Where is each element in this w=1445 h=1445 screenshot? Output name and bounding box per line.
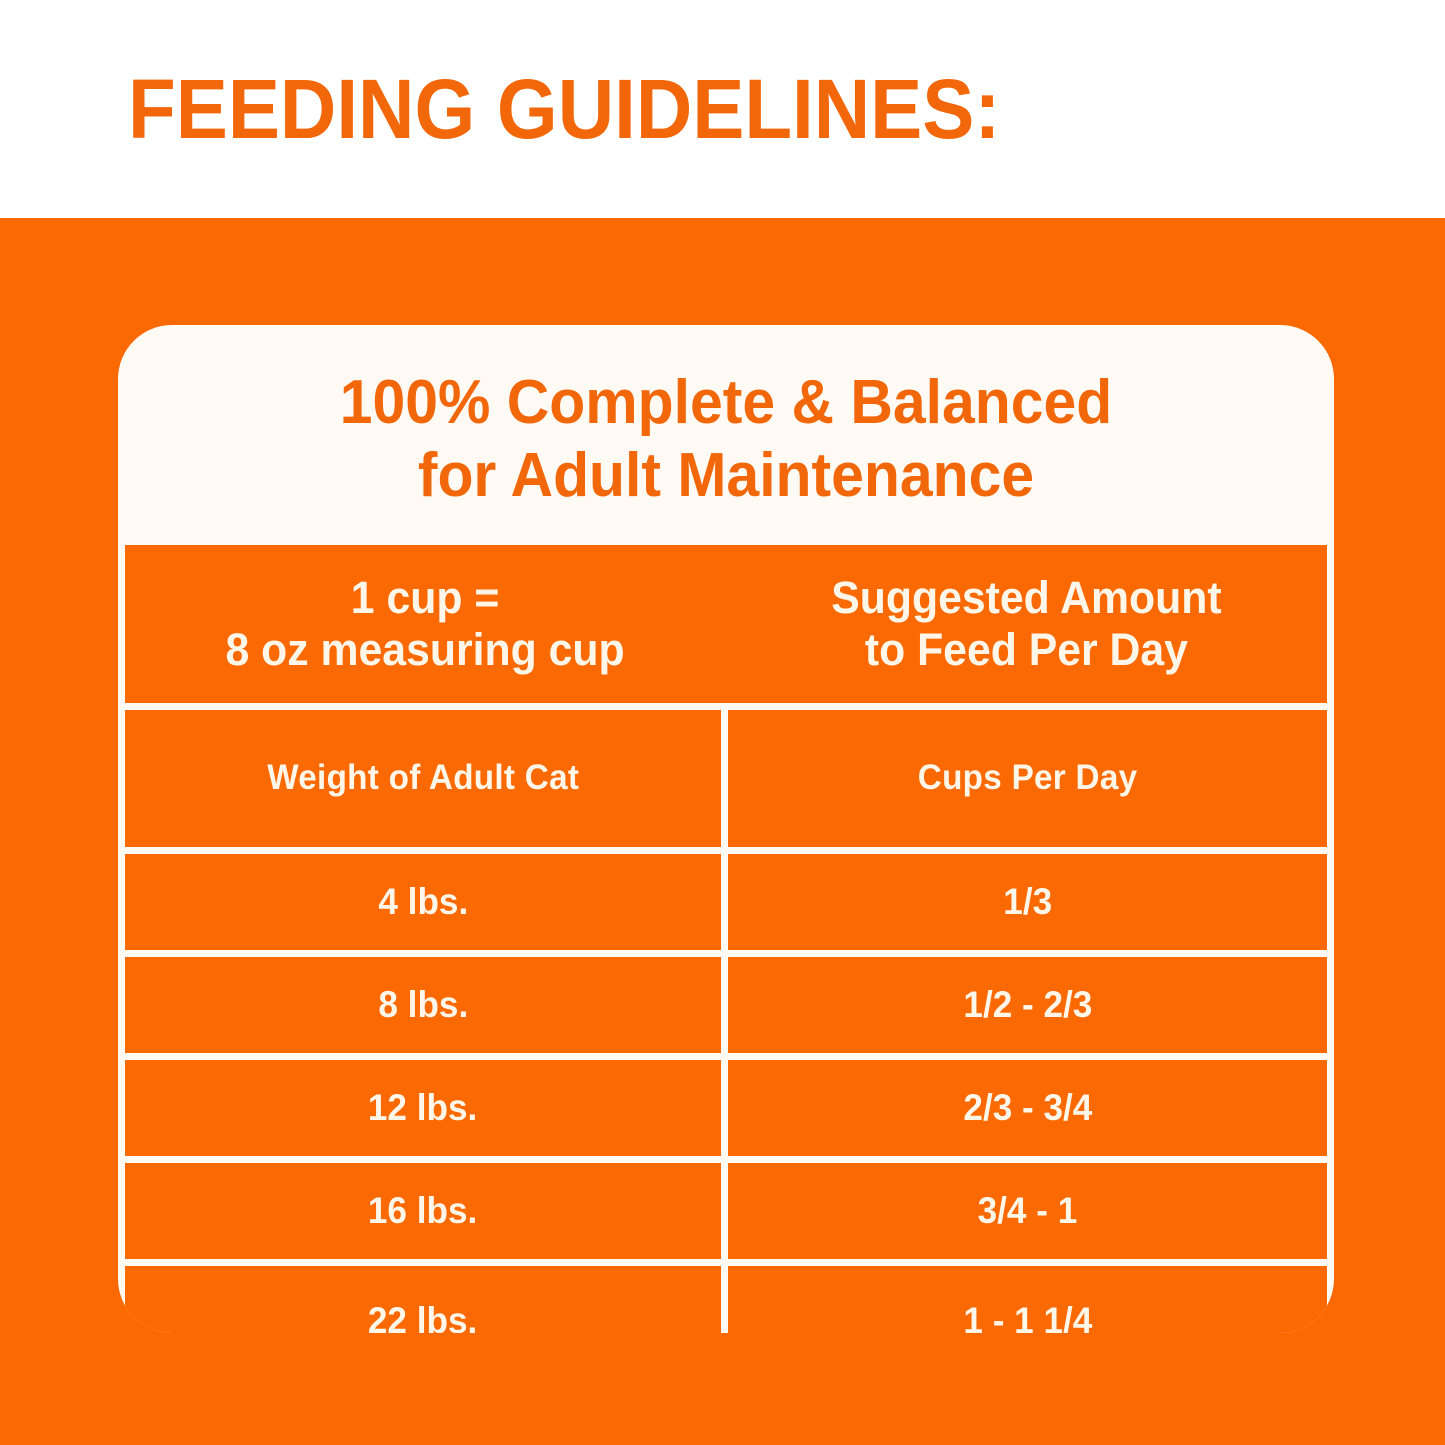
table-row: 22 lbs. 1 - 1 1/4 [125, 1266, 1327, 1333]
cell-weight-value: 22 lbs. [368, 1300, 477, 1333]
column-header-cups-label: Cups Per Day [918, 758, 1138, 798]
group-header-suggested-amount: Suggested Amount to Feed Per Day [726, 545, 1327, 703]
cell-cups-value: 1/2 - 2/3 [963, 984, 1092, 1027]
cell-weight-value: 4 lbs. [378, 881, 468, 924]
table-group-header-row: 1 cup = 8 oz measuring cup Suggested Amo… [125, 545, 1327, 703]
table-row: 16 lbs. 3/4 - 1 [125, 1163, 1327, 1259]
feeding-table: 1 cup = 8 oz measuring cup Suggested Amo… [125, 545, 1327, 1333]
table-row: 8 lbs. 1/2 - 2/3 [125, 957, 1327, 1053]
cell-weight: 22 lbs. [125, 1266, 721, 1333]
cell-cups-value: 3/4 - 1 [978, 1190, 1078, 1233]
column-header-weight-label: Weight of Adult Cat [267, 758, 579, 798]
guidelines-card: 100% Complete & Balanced for Adult Maint… [118, 325, 1334, 1333]
table-row: 4 lbs. 1/3 [125, 854, 1327, 950]
table-row: 12 lbs. 2/3 - 3/4 [125, 1060, 1327, 1156]
page-title: FEEDING GUIDELINES: [128, 67, 1000, 151]
group-header-cup-definition: 1 cup = 8 oz measuring cup [125, 545, 726, 703]
cell-cups: 1 - 1 1/4 [728, 1266, 1327, 1333]
cell-cups-value: 2/3 - 3/4 [963, 1087, 1092, 1130]
card-heading: 100% Complete & Balanced for Adult Maint… [148, 367, 1303, 512]
title-band: FEEDING GUIDELINES: [0, 0, 1445, 218]
cell-weight: 8 lbs. [125, 957, 721, 1053]
column-header-cups: Cups Per Day [728, 710, 1327, 847]
cell-cups: 2/3 - 3/4 [728, 1060, 1327, 1156]
feeding-guidelines-panel: FEEDING GUIDELINES: 100% Complete & Bala… [0, 0, 1445, 1445]
cell-cups-value: 1 - 1 1/4 [963, 1300, 1092, 1333]
cell-weight: 16 lbs. [125, 1163, 721, 1259]
cell-weight-value: 12 lbs. [368, 1087, 477, 1130]
cell-cups: 1/2 - 2/3 [728, 957, 1327, 1053]
cell-weight: 12 lbs. [125, 1060, 721, 1156]
group-header-suggested-amount-label: Suggested Amount to Feed Per Day [831, 572, 1221, 676]
cell-weight-value: 16 lbs. [368, 1190, 477, 1233]
cell-cups-value: 1/3 [1003, 881, 1052, 924]
column-header-weight: Weight of Adult Cat [125, 710, 721, 847]
cell-weight: 4 lbs. [125, 854, 721, 950]
cell-cups: 1/3 [728, 854, 1327, 950]
table-column-header-row: Weight of Adult Cat Cups Per Day [125, 710, 1327, 847]
cell-cups: 3/4 - 1 [728, 1163, 1327, 1259]
cell-weight-value: 8 lbs. [378, 984, 468, 1027]
group-header-cup-definition-label: 1 cup = 8 oz measuring cup [226, 572, 625, 676]
